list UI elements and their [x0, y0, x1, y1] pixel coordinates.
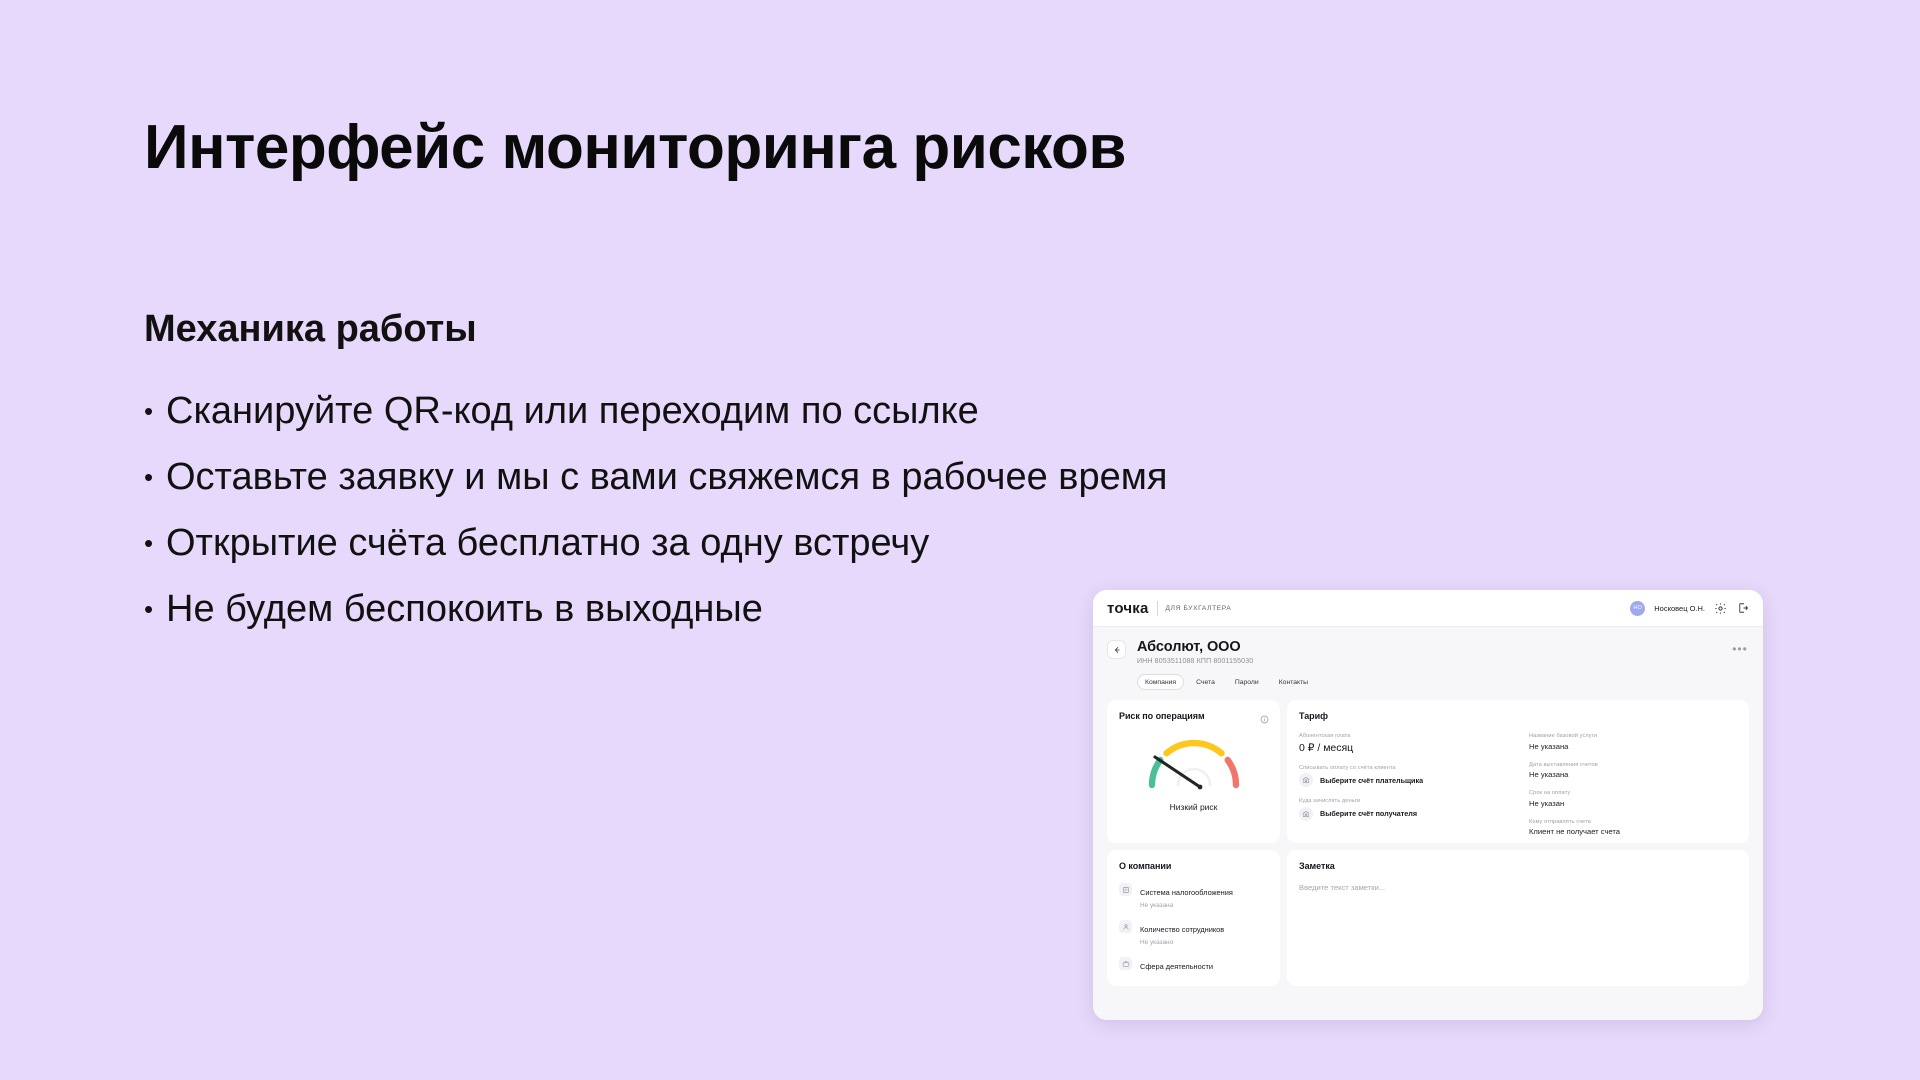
gauge-graphic	[1140, 731, 1248, 793]
field-invoice-recipient: Кому отправлять счета Клиент не получает…	[1529, 819, 1737, 837]
user-icon	[1119, 920, 1132, 933]
tariff-fields: Абонентская плата 0 ₽ / месяц Списывать …	[1299, 733, 1737, 836]
info-icon[interactable]	[1260, 711, 1269, 720]
company-ids: ИНН 8053511088 КПП 8001155030	[1137, 658, 1253, 665]
about-row-business-area[interactable]: Сфера деятельности	[1119, 956, 1268, 976]
user-name[interactable]: Носковец О.Н.	[1654, 604, 1705, 613]
field-value: Не указана	[1529, 770, 1737, 779]
field-value: 0 ₽ / месяц	[1299, 742, 1507, 754]
risk-gauge: Низкий риск	[1119, 731, 1268, 812]
page-header: Абсолют, ООО ИНН 8053511088 КПП 80011550…	[1107, 638, 1749, 665]
app-topbar: точка ДЛЯ БУХГАЛТЕРА НО Носковец О.Н.	[1093, 590, 1763, 627]
brand[interactable]: точка ДЛЯ БУХГАЛТЕРА	[1107, 600, 1231, 617]
more-options-button[interactable]: •••	[1731, 640, 1749, 658]
section-heading: Механика работы	[144, 308, 477, 351]
risk-status-label: Низкий риск	[1170, 802, 1218, 812]
document-icon	[1119, 883, 1132, 896]
picker-label: Выберите счёт получателя	[1320, 809, 1417, 818]
recipient-account-picker[interactable]: Выберите счёт получателя	[1299, 807, 1507, 821]
payer-account-picker[interactable]: Выберите счёт плательщика	[1299, 773, 1507, 787]
note-card: Заметка Введите текст заметки...	[1287, 850, 1749, 986]
picker-label: Выберите счёт плательщика	[1320, 776, 1423, 785]
tab-company[interactable]: Компания	[1137, 674, 1184, 690]
company-name: Абсолют, ООО	[1137, 638, 1253, 656]
about-value: Не указано	[1140, 939, 1224, 946]
about-row-employee-count[interactable]: Количество сотрудников Не указано	[1119, 919, 1268, 946]
note-input[interactable]: Введите текст заметки...	[1299, 883, 1737, 892]
field-label: Название базовой услуги	[1529, 733, 1737, 739]
about-name: Сфера деятельности	[1140, 962, 1213, 971]
tab-bar: Компания Счета Пароли Контакты	[1137, 674, 1749, 690]
about-name: Система налогообложения	[1140, 888, 1233, 897]
tariff-card-title: Тариф	[1299, 711, 1737, 721]
about-row-tax-system[interactable]: Система налогообложения Не указана	[1119, 882, 1268, 909]
field-label: Абонентская плата	[1299, 733, 1507, 739]
about-texts: Система налогообложения Не указана	[1140, 882, 1233, 909]
logout-icon[interactable]	[1736, 602, 1749, 615]
field-value: Клиент не получает счета	[1529, 827, 1737, 836]
topbar-right: НО Носковец О.Н.	[1630, 601, 1749, 616]
list-item: Открытие счёта бесплатно за одну встречу	[144, 510, 1167, 576]
about-list: Система налогообложения Не указана Колич…	[1119, 882, 1268, 976]
list-item: Сканируйте QR-код или переходим по ссылк…	[144, 378, 1167, 444]
risk-card: Риск по операциям	[1107, 700, 1280, 843]
tochka-logo: точка	[1107, 600, 1149, 617]
field-payment-term: Срок на оплату Не указан	[1529, 790, 1737, 808]
about-name: Количество сотрудников	[1140, 925, 1224, 934]
about-texts: Количество сотрудников Не указано	[1140, 919, 1224, 946]
app-screenshot-window: точка ДЛЯ БУХГАЛТЕРА НО Носковец О.Н.	[1093, 590, 1763, 1020]
avatar[interactable]: НО	[1630, 601, 1645, 616]
about-company-card: О компании Система налогообложения Не ук…	[1107, 850, 1280, 986]
gear-icon[interactable]	[1714, 602, 1727, 615]
tab-accounts[interactable]: Счета	[1188, 674, 1223, 690]
risk-card-title: Риск по операциям	[1119, 711, 1268, 721]
company-heading: Абсолют, ООО ИНН 8053511088 КПП 80011550…	[1137, 638, 1253, 665]
brand-subtitle: ДЛЯ БУХГАЛТЕРА	[1166, 605, 1232, 612]
field-label: Куда зачислять деньги	[1299, 798, 1507, 804]
field-invoice-date: Дата выставления счетов Не указана	[1529, 762, 1737, 780]
tariff-right-column: Название базовой услуги Не указана Дата …	[1529, 733, 1737, 836]
tab-passwords[interactable]: Пароли	[1227, 674, 1267, 690]
field-recipient-account: Куда зачислять деньги Выберите счёт полу…	[1299, 798, 1507, 821]
tariff-card: Тариф Абонентская плата 0 ₽ / месяц Спис…	[1287, 700, 1749, 843]
field-base-service-name: Название базовой услуги Не указана	[1529, 733, 1737, 751]
field-label: Списывать оплату со счёта клиента	[1299, 765, 1507, 771]
bullet-list: Сканируйте QR-код или переходим по ссылк…	[144, 378, 1167, 642]
tariff-left-column: Абонентская плата 0 ₽ / месяц Списывать …	[1299, 733, 1507, 836]
about-texts: Сфера деятельности	[1140, 956, 1213, 976]
field-label: Дата выставления счетов	[1529, 762, 1737, 768]
about-card-title: О компании	[1119, 861, 1268, 871]
note-card-title: Заметка	[1299, 861, 1737, 871]
app-body: Абсолют, ООО ИНН 8053511088 КПП 80011550…	[1093, 627, 1763, 1020]
field-label: Кому отправлять счета	[1529, 819, 1737, 825]
field-value: Не указан	[1529, 799, 1737, 808]
tab-contacts[interactable]: Контакты	[1271, 674, 1316, 690]
field-payer-account: Списывать оплату со счёта клиента Выбери…	[1299, 765, 1507, 788]
list-item: Оставьте заявку и мы с вами свяжемся в р…	[144, 444, 1167, 510]
divider	[1157, 601, 1158, 616]
bank-icon	[1299, 807, 1313, 821]
cards-grid: Риск по операциям	[1107, 700, 1749, 986]
briefcase-icon	[1119, 957, 1132, 970]
field-label: Срок на оплату	[1529, 790, 1737, 796]
field-subscription-fee: Абонентская плата 0 ₽ / месяц	[1299, 733, 1507, 754]
field-value: Не указана	[1529, 742, 1737, 751]
list-item: Не будем беспокоить в выходные	[144, 576, 1167, 642]
page-title: Интерфейс мониторинга рисков	[144, 112, 1126, 183]
back-button[interactable]	[1107, 640, 1126, 659]
about-value: Не указана	[1140, 902, 1233, 909]
bank-icon	[1299, 773, 1313, 787]
